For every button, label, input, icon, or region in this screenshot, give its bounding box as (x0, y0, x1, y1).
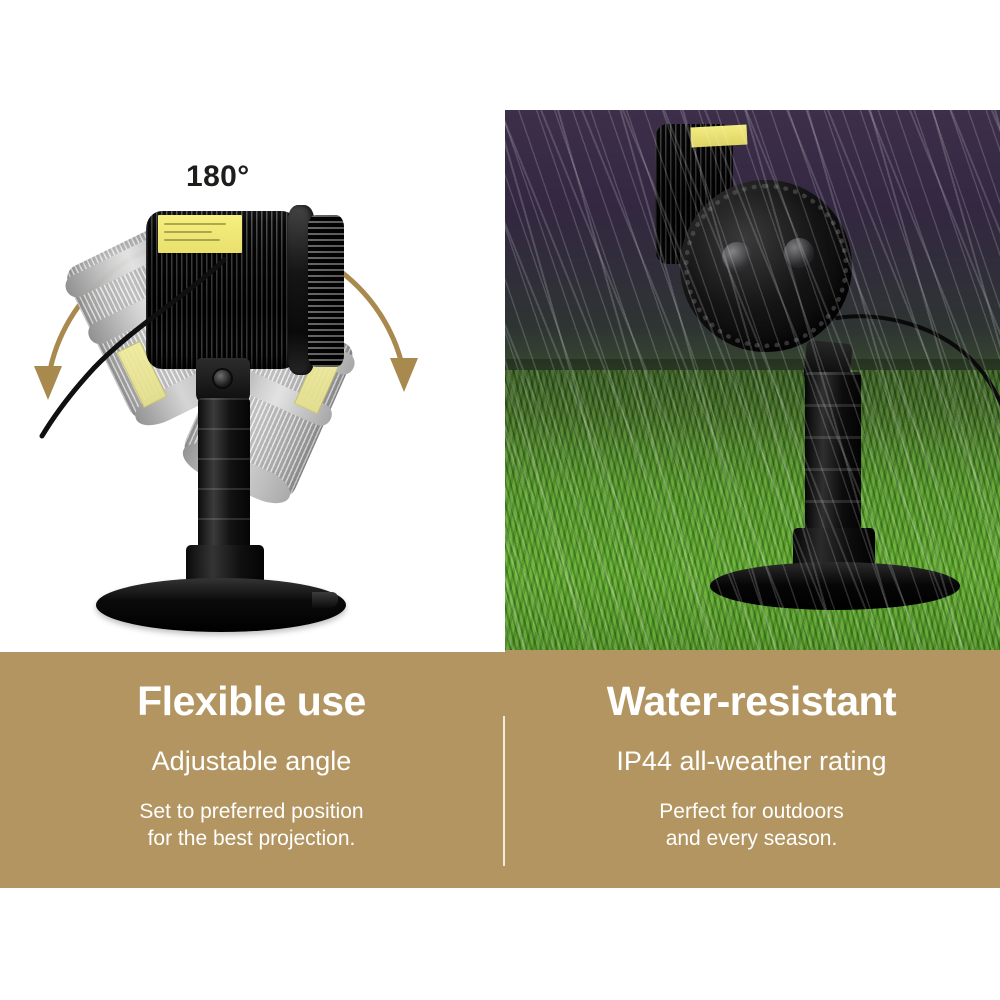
flexible-use-illustration: 180° (0, 0, 500, 652)
stand-base (96, 578, 346, 632)
water-resistant-photo (505, 110, 1000, 651)
stand-post (198, 398, 250, 560)
tilt-screw (214, 370, 231, 387)
flexible-use-caption: Flexible use Adjustable angle Set to pre… (0, 652, 503, 888)
left-caption-subtitle: Adjustable angle (152, 747, 352, 777)
rain-streaks-far (505, 110, 1000, 651)
left-caption-title: Flexible use (137, 680, 366, 723)
right-caption-subtitle: IP44 all-weather rating (616, 747, 886, 777)
right-caption-title: Water-resistant (607, 680, 896, 723)
right-caption-body-line-1: Perfect for outdoors (659, 798, 843, 825)
projector-head (146, 205, 342, 375)
product-sticker (158, 215, 242, 253)
water-resistant-caption: Water-resistant IP44 all-weather rating … (503, 652, 1000, 888)
base-tab (312, 592, 338, 608)
rotation-angle-label: 180° (186, 160, 250, 194)
right-caption-body-line-2: and every season. (659, 825, 843, 852)
left-caption-body-line-1: Set to preferred position (139, 798, 363, 825)
left-caption-body-line-2: for the best projection. (139, 825, 363, 852)
product-feature-graphic: 180° (0, 0, 1000, 1000)
